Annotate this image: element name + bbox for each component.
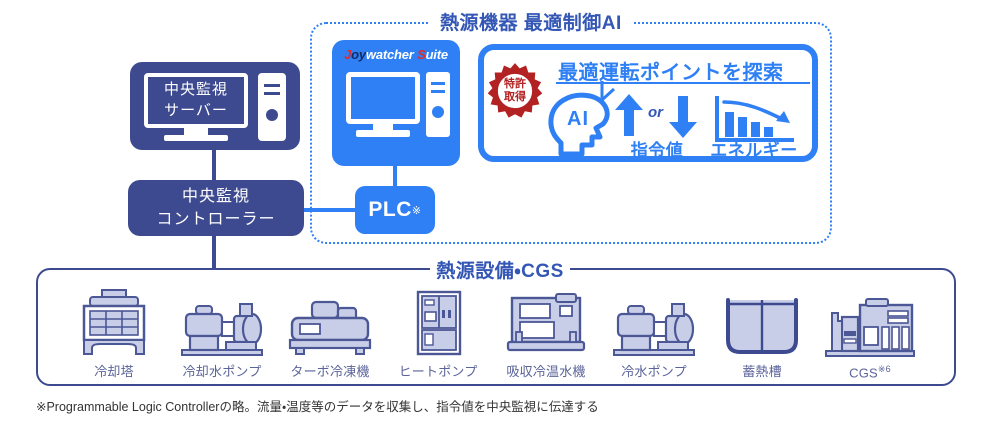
cgs-icon	[822, 291, 918, 359]
equipment-label-text: CGS	[849, 365, 878, 380]
ai-text-label: AI	[556, 108, 600, 131]
equipment-label-text: 冷水ポンプ	[621, 364, 687, 379]
footnote-text: ※Programmable Logic Controllerの略。流量・温度等の…	[36, 396, 936, 415]
equipment-label-text: ヒートポンプ	[399, 364, 478, 379]
equipment-label-text: 冷却塔	[94, 364, 134, 379]
patent-badge-line2: 取得	[504, 91, 526, 104]
controller-label-line1: 中央監視	[182, 185, 250, 208]
connector-controller-to-equipment	[212, 234, 216, 270]
equipment-label-text: 冷却水ポンプ	[183, 364, 262, 379]
joywatcher-suite-logo: Joywatcher Suite	[332, 47, 460, 62]
logo-word-watcher: watcher	[366, 47, 417, 62]
controller-label-line2: コントローラー	[156, 208, 275, 231]
equipment-item-cooling-water-pump: 冷却水ポンプ	[166, 276, 278, 380]
equipment-title-rule-left	[330, 268, 430, 270]
central-monitoring-server-box: 中央監視 サーバー	[130, 62, 300, 150]
equipment-item-thermal-storage-tank: 蓄熱槽	[706, 276, 818, 380]
pc-tower-slot-2	[431, 90, 445, 93]
equipment-label: ターボ冷凍機	[290, 361, 369, 380]
diagram-canvas: 熱源機器 最適制御AI 中央監視 サーバー 中央監視 コントローラー Joywa…	[0, 0, 1000, 422]
ai-section-title: 熱源機器 最適制御AI	[430, 8, 632, 35]
pc-tower-slot-1	[431, 82, 445, 85]
patent-badge-text: 特許 取得	[486, 62, 544, 120]
pc-monitor-base	[356, 130, 410, 137]
patent-badge-line1: 特許	[504, 78, 526, 91]
equipment-label: CGS※6	[849, 364, 891, 380]
equipment-label-text: 吸収冷温水機	[506, 364, 585, 379]
logo-letters-oy: oy	[351, 47, 366, 62]
turbo-chiller-icon	[282, 288, 378, 356]
equipment-title-rule-right	[570, 268, 670, 270]
joywatcher-suite-box: Joywatcher Suite	[332, 40, 460, 166]
plc-box: PLC※	[355, 186, 435, 234]
energy-label: エネルギー	[692, 136, 816, 161]
connector-server-to-controller	[212, 150, 216, 182]
equipment-label: ヒートポンプ	[399, 361, 478, 380]
server-tower-slot-1	[264, 84, 280, 87]
server-tower-power-dot	[266, 109, 278, 121]
equipment-label: 冷却水ポンプ	[183, 361, 262, 380]
equipment-item-absorption-chiller: 吸収冷温水機	[490, 276, 602, 380]
server-tower-slot-2	[264, 92, 280, 95]
pc-monitor-icon	[346, 72, 420, 124]
plc-footnote-mark: ※	[412, 204, 422, 217]
absorption-chiller-icon	[498, 288, 594, 356]
plc-label: PLC	[368, 198, 412, 222]
optimize-title: 最適運転ポイントを探索	[558, 56, 784, 85]
or-text: or	[648, 104, 663, 121]
logo-letter-s: S	[417, 47, 425, 62]
logo-letters-uite: uite	[426, 47, 448, 62]
server-label-line1: 中央監視	[164, 80, 228, 100]
server-screen: 中央監視 サーバー	[144, 73, 248, 128]
server-icon: 中央監視 サーバー	[130, 62, 300, 150]
equipment-label-text: 蓄熱槽	[742, 364, 782, 379]
equipment-label: 冷却塔	[94, 361, 134, 380]
equipment-item-heat-pump: ヒートポンプ	[382, 276, 494, 380]
equipment-label-footnote-mark: ※6	[878, 364, 891, 374]
heat-pump-icon	[390, 288, 486, 356]
equipment-item-cgs: CGS※6	[814, 276, 926, 380]
equipment-label: 吸収冷温水機	[506, 361, 585, 380]
equipment-item-chilled-water-pump: 冷水ポンプ	[598, 276, 710, 380]
chilled-water-pump-icon	[606, 288, 702, 356]
optimize-title-underline	[556, 82, 810, 84]
server-label-line2: サーバー	[164, 101, 228, 121]
equipment-label-text: ターボ冷凍機	[290, 364, 369, 379]
thermal-storage-tank-icon	[714, 288, 810, 356]
equipment-label: 冷水ポンプ	[621, 361, 687, 380]
cooling-water-pump-icon	[174, 288, 270, 356]
equipment-item-turbo-chiller: ターボ冷凍機	[274, 276, 386, 380]
server-monitor-base	[164, 135, 228, 141]
equipment-label: 蓄熱槽	[742, 361, 782, 380]
equipment-item-cooling-tower: 冷却塔	[58, 276, 170, 380]
cooling-tower-icon	[66, 288, 162, 356]
central-monitoring-controller-box: 中央監視 コントローラー	[128, 180, 304, 236]
pc-tower-power-dot	[432, 106, 444, 118]
